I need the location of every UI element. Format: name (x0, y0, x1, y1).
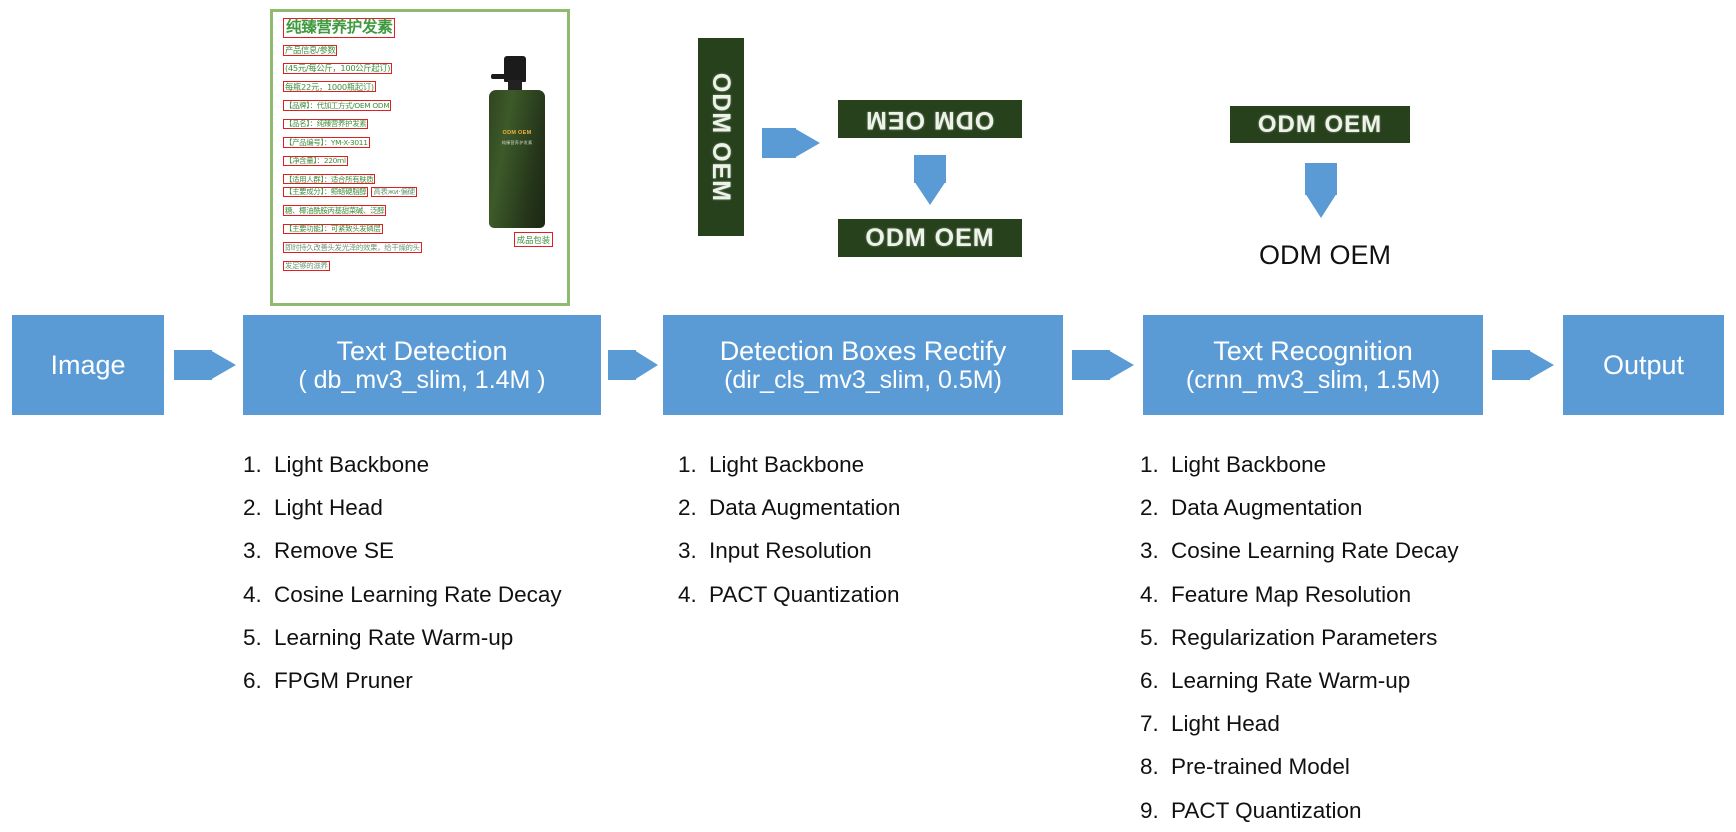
list-item-label: FPGM Pruner (274, 659, 413, 702)
list-item-label: Feature Map Resolution (1171, 573, 1411, 616)
ocr-annotation-box: 【净含量】：220ml (283, 156, 348, 166)
list-item-number: 4. (678, 573, 709, 616)
text-crop-vertical-label: ODM OEM (707, 72, 736, 201)
pipeline-box-output[interactable]: Output (1563, 315, 1724, 415)
arrow-right-icon (1072, 350, 1134, 380)
technique-list-recognition: 1.Light Backbone 2.Data Augmentation 3.C… (1140, 443, 1560, 832)
list-item: 5.Regularization Parameters (1140, 616, 1560, 659)
text-crop-upright: ODM OEM (838, 219, 1022, 257)
list-item-number: 2. (243, 486, 274, 529)
pipeline-box-output-title: Output (1603, 350, 1684, 380)
ocr-annotation-box: 【主要功能】：可紧致头发磷层 (283, 224, 383, 234)
ocr-annotation-box: 纯臻营养护发素 (283, 18, 395, 38)
pipeline-box-text-recognition-title: Text Recognition (1213, 336, 1413, 366)
list-item-label: Cosine Learning Rate Decay (274, 573, 562, 616)
list-item-label: Cosine Learning Rate Decay (1171, 529, 1459, 572)
list-item: 1.Light Backbone (243, 443, 623, 486)
text-crop-recognition-input-label: ODM OEM (1258, 111, 1382, 139)
bottle-cap (504, 56, 526, 82)
product-bottle-illustration: ODM OEM 纯臻营养护发素 (487, 56, 549, 231)
list-item-label: Regularization Parameters (1171, 616, 1437, 659)
list-item: 3.Remove SE (243, 529, 623, 572)
list-item: 1.Light Backbone (678, 443, 1078, 486)
ocr-annotation-box: 糖、椰油酰胺丙基甜菜碱、泛醇 (283, 205, 386, 215)
text-crop-upright-label: ODM OEM (865, 224, 994, 253)
ocr-annotation-box: 【主要成分】：鲸蜡硬脂醇 (283, 187, 368, 197)
list-item: 8.Pre-trained Model (1140, 745, 1560, 788)
list-item-label: Data Augmentation (1171, 486, 1362, 529)
ocr-annotation-box-packaging: 成品包装 (514, 232, 553, 247)
list-item-number: 3. (1140, 529, 1171, 572)
list-item: 9.PACT Quantization (1140, 789, 1560, 832)
list-item: 2.Light Head (243, 486, 623, 529)
text-crop-flipped-label: ODM OEM (865, 105, 994, 134)
list-item-label: Pre-trained Model (1171, 745, 1350, 788)
pipeline-box-text-recognition[interactable]: Text Recognition (crnn_mv3_slim, 1.5M) (1143, 315, 1483, 415)
ocr-annotation-box: 即时持久改善头发光泽的效果，给干燥的头 (283, 242, 422, 252)
list-item-number: 3. (243, 529, 274, 572)
ocr-annotation-box: 【产品编号】：YM-X-3011 (283, 137, 370, 147)
list-item-number: 6. (243, 659, 274, 702)
list-item: 6.Learning Rate Warm-up (1140, 659, 1560, 702)
list-item-number: 1. (678, 443, 709, 486)
list-item-label: Light Head (1171, 702, 1280, 745)
list-item-label: Remove SE (274, 529, 394, 572)
bottle-label-top: ODM OEM (489, 130, 545, 136)
pipeline-box-text-detection[interactable]: Text Detection ( db_mv3_slim, 1.4M ) (243, 315, 601, 415)
list-item: 6.FPGM Pruner (243, 659, 623, 702)
ocr-annotation-box: 【适用人群】：适合所有肤质 (283, 174, 375, 184)
list-item-number: 4. (1140, 573, 1171, 616)
list-item: 4.PACT Quantization (678, 573, 1078, 616)
recognized-text-output: ODM OEM (1230, 240, 1420, 271)
list-item-number: 1. (243, 443, 274, 486)
list-item-number: 8. (1140, 745, 1171, 788)
list-item-number: 6. (1140, 659, 1171, 702)
list-item-number: 2. (678, 486, 709, 529)
list-item-label: Data Augmentation (709, 486, 900, 529)
list-item-label: Input Resolution (709, 529, 872, 572)
list-item: 2.Data Augmentation (678, 486, 1078, 529)
pipeline-box-detection-boxes-rectify-title: Detection Boxes Rectify (720, 336, 1007, 366)
ocr-annotation-box: 高表жи·偏硬 (371, 187, 416, 197)
pipeline-box-detection-boxes-rectify-model: (dir_cls_mv3_slim, 0.5M) (724, 366, 1002, 394)
arrow-down-icon (1305, 163, 1337, 219)
arrow-right-icon (1492, 350, 1554, 380)
technique-list-rectify: 1.Light Backbone 2.Data Augmentation 3.I… (678, 443, 1078, 616)
bottle-body: ODM OEM 纯臻营养护发素 (489, 90, 545, 228)
list-item: 1.Light Backbone (1140, 443, 1560, 486)
arrow-right-icon (174, 350, 236, 380)
list-item: 7.Light Head (1140, 702, 1560, 745)
list-item-number: 2. (1140, 486, 1171, 529)
pipeline-box-image-title: Image (50, 350, 125, 380)
list-item-label: Light Backbone (274, 443, 429, 486)
list-item-label: Learning Rate Warm-up (1171, 659, 1410, 702)
ocr-annotation-box: 每瓶22元，1000瓶起订) (283, 81, 376, 92)
pipeline-box-text-detection-model: ( db_mv3_slim, 1.4M ) (298, 366, 545, 394)
ocr-annotation-box: (45元/每公斤，100公斤起订) (283, 63, 392, 74)
list-item: 5.Learning Rate Warm-up (243, 616, 623, 659)
pipeline-box-text-recognition-model: (crnn_mv3_slim, 1.5M) (1186, 366, 1440, 394)
list-item: 3.Input Resolution (678, 529, 1078, 572)
list-item-number: 4. (243, 573, 274, 616)
ocr-annotation-box: 产品信息/参数 (283, 45, 337, 56)
ocr-annotation-box: 【品牌】：代加工方式/OEM ODM (283, 100, 391, 110)
ocr-annotation-box: 发足够的滋养 (283, 261, 330, 271)
list-item-number: 5. (1140, 616, 1171, 659)
arrow-down-icon (914, 155, 946, 205)
list-item: 4.Cosine Learning Rate Decay (243, 573, 623, 616)
list-item-number: 1. (1140, 443, 1171, 486)
list-item: 2.Data Augmentation (1140, 486, 1560, 529)
ocr-sample-image: 纯臻营养护发素 产品信息/参数 (45元/每公斤，100公斤起订) 每瓶22元，… (270, 9, 570, 306)
ocr-annotation-list: 纯臻营养护发素 产品信息/参数 (45元/每公斤，100公斤起订) 每瓶22元，… (283, 18, 488, 273)
list-item-number: 7. (1140, 702, 1171, 745)
pipeline-box-text-detection-title: Text Detection (336, 336, 507, 366)
list-item-label: Learning Rate Warm-up (274, 616, 513, 659)
technique-list-detection: 1.Light Backbone 2.Light Head 3.Remove S… (243, 443, 623, 702)
list-item: 4.Feature Map Resolution (1140, 573, 1560, 616)
text-crop-vertical: ODM OEM (698, 38, 744, 236)
ocr-annotation-box: 【品名】：纯臻营养护发素 (283, 119, 368, 129)
text-crop-flipped: ODM OEM (838, 100, 1022, 138)
list-item-label: PACT Quantization (709, 573, 900, 616)
list-item-label: PACT Quantization (1171, 789, 1362, 832)
list-item-label: Light Backbone (709, 443, 864, 486)
pipeline-box-detection-boxes-rectify[interactable]: Detection Boxes Rectify (dir_cls_mv3_sli… (663, 315, 1063, 415)
list-item-number: 9. (1140, 789, 1171, 832)
pipeline-box-image[interactable]: Image (12, 315, 164, 415)
list-item: 3.Cosine Learning Rate Decay (1140, 529, 1560, 572)
list-item-number: 3. (678, 529, 709, 572)
bottle-label-sub: 纯臻营养护发素 (489, 140, 545, 146)
list-item-number: 5. (243, 616, 274, 659)
list-item-label: Light Head (274, 486, 383, 529)
text-crop-recognition-input: ODM OEM (1230, 106, 1410, 143)
arrow-right-icon (762, 128, 820, 158)
list-item-label: Light Backbone (1171, 443, 1326, 486)
arrow-right-icon (608, 350, 658, 380)
